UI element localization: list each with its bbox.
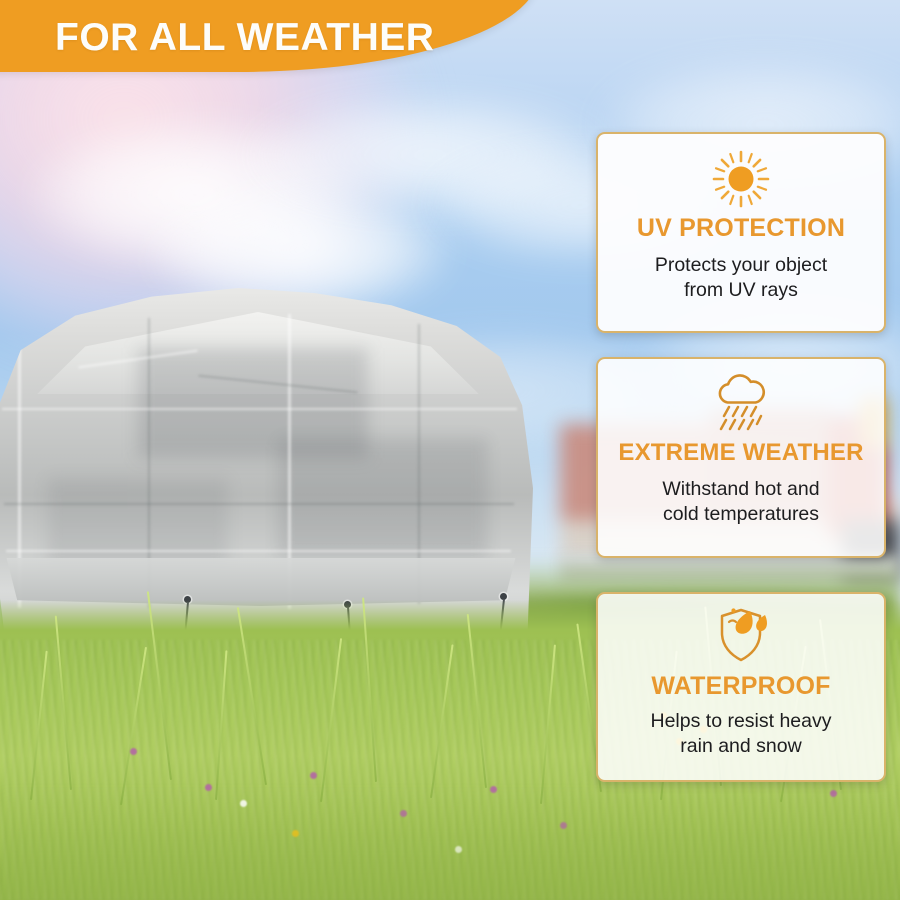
- feature-card-body-line: from UV rays: [614, 278, 868, 303]
- water-repellent-shield-icon: [598, 602, 884, 668]
- feature-card-title: WATERPROOF: [598, 674, 884, 699]
- wildflower: [130, 748, 137, 755]
- feature-card-body-line: Withstand hot and: [614, 477, 868, 502]
- feature-card-body-line: cold temperatures: [614, 502, 868, 527]
- feature-card-uv-protection[interactable]: UV PROTECTION Protects your object from …: [596, 132, 886, 333]
- foreground-blur: [0, 790, 900, 900]
- product-feature-graphic: FOR ALL WEATHER: [0, 0, 900, 900]
- feature-card-extreme-weather[interactable]: EXTREME WEATHER Withstand hot and cold t…: [596, 357, 886, 558]
- feature-card-body: Withstand hot and cold temperatures: [598, 477, 884, 527]
- sun-icon: [598, 144, 884, 214]
- feature-card-body-line: rain and snow: [614, 734, 868, 759]
- banner-title: FOR ALL WEATHER: [55, 16, 434, 60]
- cover-bottom-hem: [0, 558, 526, 606]
- feature-card-body-line: Helps to resist heavy: [614, 709, 868, 734]
- feature-card-title: UV PROTECTION: [598, 216, 884, 241]
- feature-card-body: Protects your object from UV rays: [598, 253, 884, 303]
- feature-card-body-line: Protects your object: [614, 253, 868, 278]
- feature-card-body: Helps to resist heavy rain and snow: [598, 709, 884, 759]
- feature-card-waterproof[interactable]: WATERPROOF Helps to resist heavy rain an…: [596, 592, 886, 782]
- wildflower: [310, 772, 317, 779]
- feature-card-title: EXTREME WEATHER: [598, 441, 884, 465]
- rain-cloud-icon: [598, 369, 884, 439]
